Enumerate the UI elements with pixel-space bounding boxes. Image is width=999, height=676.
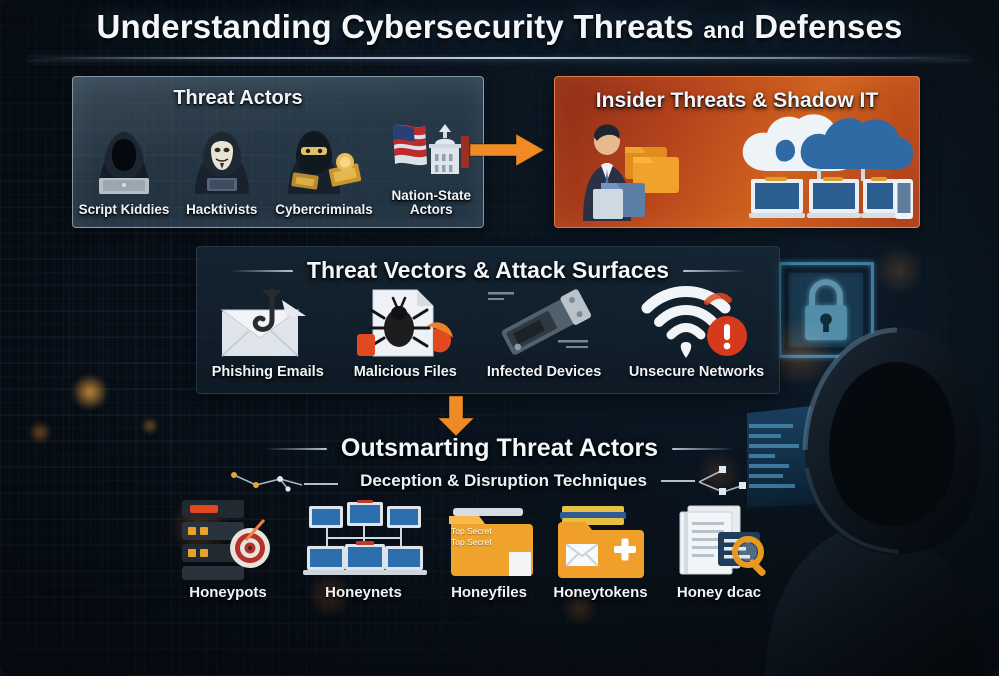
deception-label: Honeypots bbox=[189, 585, 267, 601]
threat-actor-label: Nation-State Actors bbox=[392, 189, 472, 217]
threat-actor-hacktivists[interactable]: Hacktivists bbox=[179, 122, 265, 217]
envelope-hook-icon bbox=[214, 286, 322, 360]
threat-actors-heading: Threat Actors bbox=[73, 87, 403, 110]
businessman-folders-icon bbox=[571, 121, 691, 221]
guy-fawkes-mask-icon bbox=[179, 122, 265, 198]
page-title: Understanding Cybersecurity Threats and … bbox=[96, 8, 902, 46]
threat-actors-icon-row: Script Kiddies Hacktivists bbox=[74, 108, 484, 217]
heading-dash-right bbox=[672, 448, 734, 450]
folder-label-lines: Top Secret Top Secret bbox=[451, 526, 492, 547]
deception-label: Honey dcac bbox=[677, 585, 761, 601]
laptop-tablet-devices-icon bbox=[749, 173, 915, 225]
threat-vector-infected-devices[interactable]: Infected Devices bbox=[487, 286, 601, 380]
page-title-conjunction: and bbox=[703, 17, 745, 43]
masked-thief-money-icon bbox=[274, 122, 374, 198]
threat-actor-label: Cybercriminals bbox=[275, 203, 373, 217]
heading-dash-right bbox=[683, 270, 745, 272]
deception-label: Honeynets bbox=[325, 585, 402, 601]
threat-vector-phishing-emails[interactable]: Phishing Emails bbox=[212, 286, 324, 380]
heading-dash-left bbox=[265, 448, 327, 450]
threat-vector-label: Malicious Files bbox=[354, 365, 457, 380]
threat-vector-label: Unsecure Networks bbox=[629, 365, 764, 380]
outsmarting-icon-row: Honeypots bbox=[172, 500, 772, 601]
documents-magnifier-icon bbox=[666, 502, 772, 580]
page-title-tail: Defenses bbox=[754, 8, 902, 45]
threat-vectors-heading-row: Threat Vectors & Attack Surfaces bbox=[197, 257, 779, 284]
folder-label-line1: Top Secret bbox=[451, 526, 492, 537]
folder-envelope-plus-icon bbox=[552, 502, 650, 580]
deception-honeynets[interactable]: Honeynets bbox=[301, 500, 427, 601]
flag-capitol-icon bbox=[383, 108, 479, 184]
padlock-hologram-icon bbox=[768, 252, 884, 368]
threat-actor-nation-state[interactable]: Nation-State Actors bbox=[383, 108, 479, 217]
threat-vector-label: Phishing Emails bbox=[212, 365, 324, 380]
deception-honey-data[interactable]: Honey dcac bbox=[666, 502, 772, 601]
top-secret-folder-icon: Top Secret Top Secret bbox=[443, 502, 535, 580]
hoodie-laptop-icon bbox=[81, 122, 167, 198]
threat-actor-cybercriminals[interactable]: Cybercriminals bbox=[274, 122, 374, 217]
usb-drive-icon bbox=[488, 286, 600, 360]
threat-vectors-heading: Threat Vectors & Attack Surfaces bbox=[307, 257, 669, 284]
title-divider bbox=[28, 57, 971, 59]
file-bug-icon bbox=[351, 286, 459, 360]
infographic-poster: Understanding Cybersecurity Threats and … bbox=[0, 0, 999, 676]
threat-vector-unsecure-networks[interactable]: Unsecure Networks bbox=[629, 286, 764, 380]
deception-honeypots[interactable]: Honeypots bbox=[172, 500, 284, 601]
threat-vector-malicious-files[interactable]: Malicious Files bbox=[351, 286, 459, 380]
deception-label: Honeyfiles bbox=[451, 585, 527, 601]
threat-actor-label: Hacktivists bbox=[186, 203, 257, 217]
network-nodes-left-icon bbox=[228, 469, 346, 493]
deception-label: Honeytokens bbox=[553, 585, 647, 601]
heading-dash-left bbox=[231, 270, 293, 272]
folder-label-line2: Top Secret bbox=[451, 537, 492, 548]
poster-title-area: Understanding Cybersecurity Threats and … bbox=[0, 8, 999, 46]
network-nodes-right-icon bbox=[661, 466, 771, 496]
deception-honeytokens[interactable]: Honeytokens bbox=[552, 502, 650, 601]
server-target-icon bbox=[172, 500, 284, 580]
threat-actor-script-kiddies[interactable]: Script Kiddies bbox=[79, 122, 170, 217]
deception-honeyfiles[interactable]: Top Secret Top Secret Honeyfiles bbox=[443, 502, 535, 601]
laptop-network-icon bbox=[301, 500, 427, 580]
insider-threats-panel: Insider Threats & Shadow IT bbox=[554, 76, 920, 228]
cloud-upload-icon bbox=[737, 107, 915, 181]
arrow-right-icon bbox=[470, 132, 544, 168]
threat-actor-label: Script Kiddies bbox=[79, 203, 170, 217]
outsmarting-subheading: Deception & Disruption Techniques bbox=[360, 471, 647, 491]
wifi-alert-icon bbox=[641, 286, 753, 360]
outsmarting-heading: Outsmarting Threat Actors bbox=[341, 434, 658, 463]
arrow-down-icon bbox=[436, 396, 476, 436]
threat-vectors-icon-row: Phishing Emails Malicious Files bbox=[198, 286, 778, 380]
page-title-main: Understanding Cybersecurity Threats bbox=[96, 8, 694, 45]
outsmarting-subheading-row: Deception & Disruption Techniques bbox=[0, 466, 999, 496]
outsmarting-heading-row: Outsmarting Threat Actors bbox=[0, 434, 999, 463]
threat-vector-label: Infected Devices bbox=[487, 365, 601, 380]
